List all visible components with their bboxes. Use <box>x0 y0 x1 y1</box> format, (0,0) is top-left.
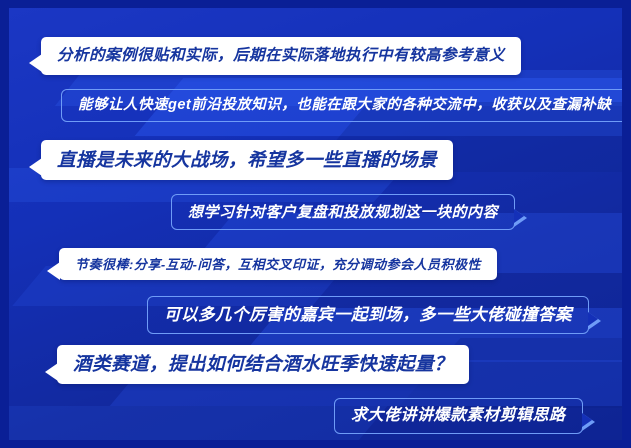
speech-bubble: 想学习针对客户复盘和投放规划这一块的内容 <box>171 194 515 230</box>
speech-bubble-text: 节奏很棒:分享-互动-问答，互相交叉印证，充分调动参会人员积极性 <box>75 258 481 271</box>
speech-bubble: 能够让人快速get前沿投放知识，也能在跟大家的各种交流中，收获以及查漏补缺 <box>61 89 622 122</box>
speech-bubble-text: 想学习针对客户复盘和投放规划这一块的内容 <box>188 205 498 220</box>
speech-bubble: 酒类赛道，提出如何结合酒水旺季快速起量？ <box>57 345 469 384</box>
speech-bubble: 分析的案例很贴和实际，后期在实际落地执行中有较高参考意义 <box>41 37 521 75</box>
speech-bubble: 求大佬讲讲爆款素材剪辑思路 <box>334 398 583 434</box>
speech-bubble-text: 分析的案例很贴和实际，后期在实际落地执行中有较高参考意义 <box>57 48 505 64</box>
speech-bubble-text: 直播是未来的大战场，希望多一些直播的场景 <box>57 151 437 170</box>
poster-canvas: 分析的案例很贴和实际，后期在实际落地执行中有较高参考意义 能够让人快速get前沿… <box>0 0 631 448</box>
speech-bubble-text: 酒类赛道，提出如何结合酒水旺季快速起量？ <box>73 355 453 374</box>
speech-bubble: 可以多几个厉害的嘉宾一起到场，多一些大佬碰撞答案 <box>147 296 589 334</box>
speech-bubble-text: 求大佬讲讲爆款素材剪辑思路 <box>351 408 566 424</box>
speech-bubble-text: 能够让人快速get前沿投放知识，也能在跟大家的各种交流中，收获以及查漏补缺 <box>78 98 611 113</box>
speech-bubble-text: 可以多几个厉害的嘉宾一起到场，多一些大佬碰撞答案 <box>164 307 572 324</box>
speech-bubble: 直播是未来的大战场，希望多一些直播的场景 <box>41 140 453 180</box>
background-streak <box>9 406 387 440</box>
speech-bubble: 节奏很棒:分享-互动-问答，互相交叉印证，充分调动参会人员积极性 <box>59 248 497 280</box>
poster-panel: 分析的案例很贴和实际，后期在实际落地执行中有较高参考意义 能够让人快速get前沿… <box>9 8 622 440</box>
